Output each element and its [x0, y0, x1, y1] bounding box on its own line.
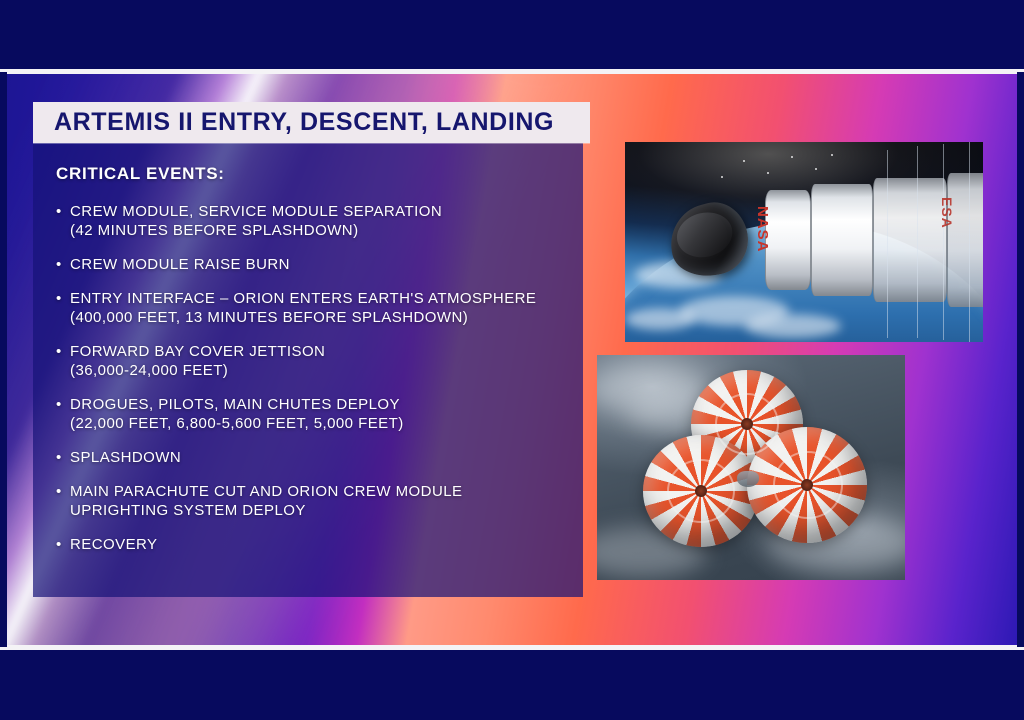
solar-array-line: [887, 150, 888, 338]
bullet-icon: •: [56, 255, 70, 274]
event-text: MAIN PARACHUTE CUT AND ORION CREW MODULE…: [70, 482, 580, 520]
solar-array-line: [943, 144, 944, 340]
broadcast-screen: ARTEMIS II ENTRY, DESCENT, LANDING CRITI…: [0, 0, 1024, 720]
star-icon: [743, 160, 745, 162]
orion-capsule: [737, 471, 759, 487]
star-icon: [791, 156, 793, 158]
event-item: •CREW MODULE, SERVICE MODULE SEPARATION(…: [56, 202, 580, 240]
event-line: (36,000-24,000 FEET): [70, 361, 580, 380]
event-item: •DROGUES, PILOTS, MAIN CHUTES DEPLOY(22,…: [56, 395, 580, 433]
frame-bottom-bar: [0, 652, 1024, 720]
parachute-vent: [801, 479, 813, 491]
slide-stage: ARTEMIS II ENTRY, DESCENT, LANDING CRITI…: [7, 74, 1017, 645]
service-module-segment: [947, 173, 983, 307]
event-line: FORWARD BAY COVER JETTISON: [70, 342, 580, 361]
bullet-icon: •: [56, 395, 70, 433]
frame-right-edge: [1017, 72, 1024, 647]
bullet-icon: •: [56, 448, 70, 467]
bullet-icon: •: [56, 289, 70, 327]
event-line: DROGUES, PILOTS, MAIN CHUTES DEPLOY: [70, 395, 580, 414]
event-line: CREW MODULE, SERVICE MODULE SEPARATION: [70, 202, 580, 221]
star-icon: [815, 168, 817, 170]
cloud: [625, 308, 695, 330]
event-line: ENTRY INTERFACE – ORION ENTERS EARTH'S A…: [70, 289, 580, 308]
event-text: FORWARD BAY COVER JETTISON(36,000-24,000…: [70, 342, 580, 380]
photo-orion-separation: NASA ESA: [625, 142, 983, 342]
service-module-segment: [765, 190, 811, 290]
solar-array-line: [917, 146, 918, 338]
event-item: •CREW MODULE RAISE BURN: [56, 255, 580, 274]
event-item: •RECOVERY: [56, 535, 580, 554]
event-text: RECOVERY: [70, 535, 580, 554]
cloud: [745, 314, 841, 338]
parachute-vent: [741, 418, 753, 430]
event-line: UPRIGHTING SYSTEM DEPLOY: [70, 501, 580, 520]
event-line: (22,000 FEET, 6,800-5,600 FEET, 5,000 FE…: [70, 414, 580, 433]
event-item: •ENTRY INTERFACE – ORION ENTERS EARTH'S …: [56, 289, 580, 327]
frame-top-bar: [0, 0, 1024, 72]
esa-logo-text: ESA: [939, 197, 955, 229]
event-item: •FORWARD BAY COVER JETTISON(36,000-24,00…: [56, 342, 580, 380]
event-text: CREW MODULE RAISE BURN: [70, 255, 580, 274]
star-icon: [767, 172, 769, 174]
event-item: •MAIN PARACHUTE CUT AND ORION CREW MODUL…: [56, 482, 580, 520]
photo-main-parachutes: [597, 355, 905, 580]
nasa-logo-text: NASA: [754, 206, 771, 253]
event-line: SPLASHDOWN: [70, 448, 580, 467]
event-text: SPLASHDOWN: [70, 448, 580, 467]
slide-title-bar: ARTEMIS II ENTRY, DESCENT, LANDING: [33, 102, 590, 143]
events-list: •CREW MODULE, SERVICE MODULE SEPARATION(…: [56, 202, 580, 554]
star-icon: [721, 176, 723, 178]
event-text: CREW MODULE, SERVICE MODULE SEPARATION(4…: [70, 202, 580, 240]
event-line: (400,000 FEET, 13 MINUTES BEFORE SPLASHD…: [70, 308, 580, 327]
event-item: •SPLASHDOWN: [56, 448, 580, 467]
critical-events-section: CRITICAL EVENTS: •CREW MODULE, SERVICE M…: [33, 144, 590, 597]
bullet-icon: •: [56, 482, 70, 520]
event-line: MAIN PARACHUTE CUT AND ORION CREW MODULE: [70, 482, 580, 501]
events-heading: CRITICAL EVENTS:: [56, 164, 580, 184]
bullet-icon: •: [56, 342, 70, 380]
event-text: ENTRY INTERFACE – ORION ENTERS EARTH'S A…: [70, 289, 580, 327]
page-title: ARTEMIS II ENTRY, DESCENT, LANDING: [54, 108, 554, 137]
event-text: DROGUES, PILOTS, MAIN CHUTES DEPLOY(22,0…: [70, 395, 580, 433]
service-module-segment: [811, 184, 873, 296]
event-line: RECOVERY: [70, 535, 580, 554]
star-icon: [831, 154, 833, 156]
bullet-icon: •: [56, 535, 70, 554]
service-module-segment: [873, 178, 947, 302]
event-line: (42 MINUTES BEFORE SPLASHDOWN): [70, 221, 580, 240]
frame-left-edge: [0, 72, 7, 647]
event-line: CREW MODULE RAISE BURN: [70, 255, 580, 274]
solar-array-line: [969, 142, 970, 342]
frame-bottom-rule: [0, 645, 1024, 650]
bullet-icon: •: [56, 202, 70, 240]
parachute-vent: [695, 485, 707, 497]
heat-shield: [672, 207, 737, 263]
